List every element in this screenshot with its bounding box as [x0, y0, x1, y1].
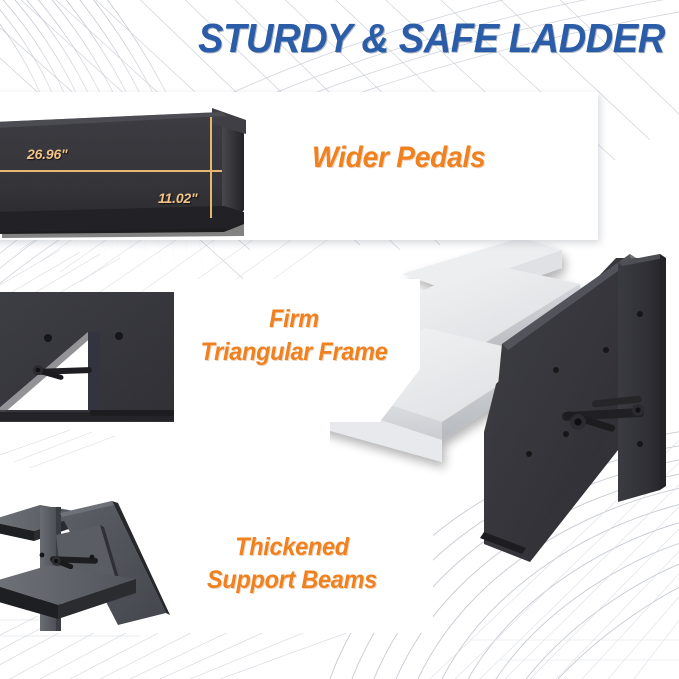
feature-label-line-2: Support Beams [207, 564, 377, 597]
ladder-cross-brace-hardware [562, 395, 644, 432]
ladder-side-panel [480, 254, 640, 562]
pedal-width-dimension-line [0, 170, 222, 172]
triangular-frame-closeup-image [0, 286, 174, 427]
feature-card-wider-pedals [0, 92, 598, 240]
page-title-text: STURDY & SAFE LADDER [198, 14, 665, 62]
feature-label-thickened-support-beams: Thickened Support Beams [207, 531, 377, 597]
feature-label-line-2: Triangular Frame [200, 336, 387, 369]
pedal-depth-dimension-line [210, 117, 212, 218]
product-infographic: STURDY & SAFE LADDER [0, 0, 679, 679]
feature-label-line-1: Thickened [207, 531, 377, 564]
pedal-width-callout: 26.96" [27, 146, 67, 162]
ladder-rear-leg [618, 254, 666, 502]
feature-label-line-1: Firm [200, 303, 387, 336]
feature-label-firm-triangular-frame: Firm Triangular Frame [200, 303, 387, 369]
pedal-depth-callout: 11.02" [158, 190, 197, 206]
feature-label-wider-pedals: Wider Pedals [312, 139, 485, 177]
page-title: STURDY & SAFE LADDER [163, 14, 665, 62]
